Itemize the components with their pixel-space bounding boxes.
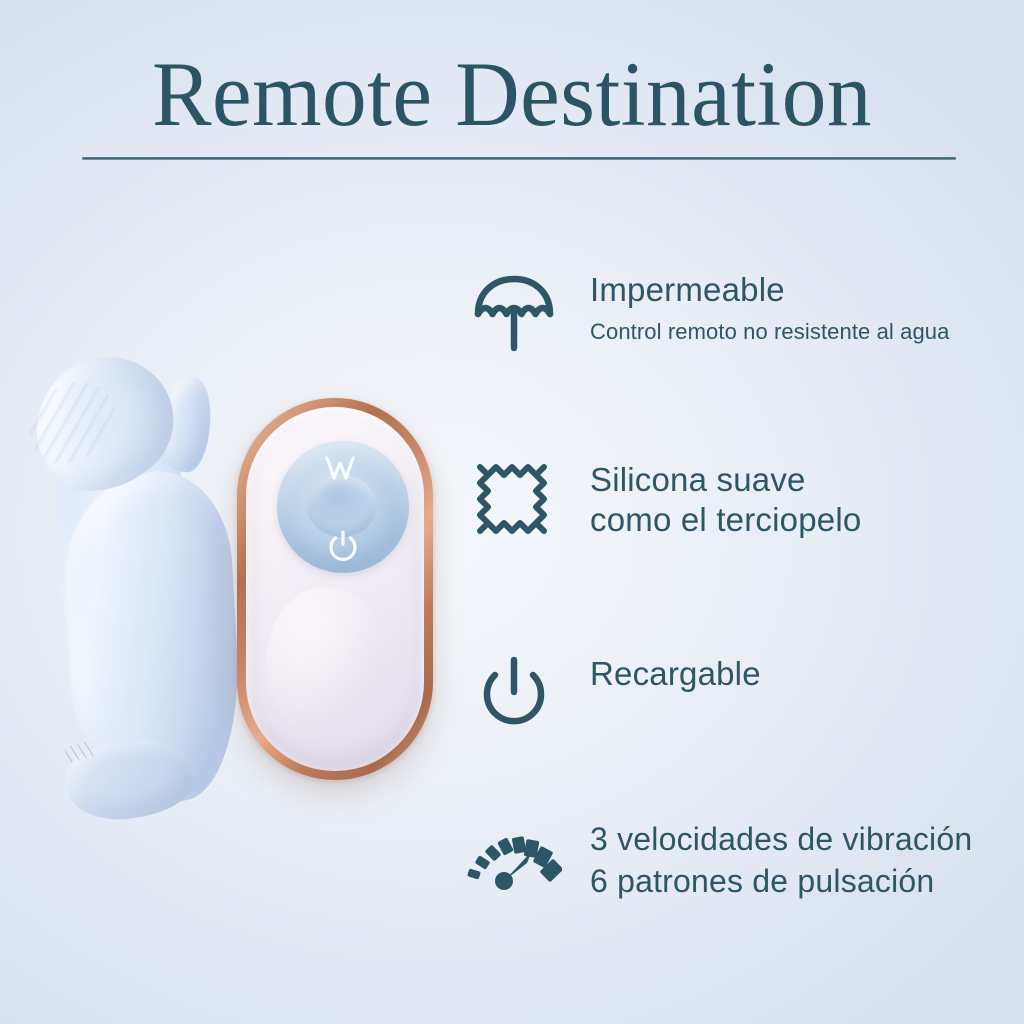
- feature-text-silicona: Silicona suave como el terciopelo: [590, 458, 861, 541]
- feature-text-recargable: Recargable: [590, 652, 761, 694]
- title-divider: [82, 157, 956, 160]
- feature-item-silicona: Silicona suave como el terciopelo: [466, 458, 1024, 544]
- remote-main-button: [277, 441, 409, 573]
- fabric-swatch-icon: [466, 458, 562, 544]
- feature-heading: Impermeable: [590, 270, 949, 310]
- feature-text-impermeable: Impermeable Control remoto no resistente…: [590, 268, 949, 347]
- page-title: Remote Destination: [15, 48, 1008, 142]
- title-block: Remote Destination: [0, 48, 1024, 142]
- feature-item-impermeable: Impermeable Control remoto no resistente…: [466, 268, 1024, 354]
- remote-gloss-highlight: [266, 587, 386, 737]
- feature-text-velocidades: 3 velocidades de vibración 6 patrones de…: [590, 816, 972, 902]
- feature-item-velocidades: 3 velocidades de vibración 6 patrones de…: [466, 816, 1024, 902]
- power-symbol-icon: [327, 529, 359, 563]
- gauge-icon: [466, 816, 562, 902]
- umbrella-icon: [466, 268, 562, 354]
- feature-item-recargable: Recargable: [466, 652, 1024, 738]
- feature-heading: Silicona suave como el terciopelo: [590, 460, 861, 541]
- remote-face-panel: [246, 407, 424, 771]
- feature-subtext: Control remoto no resistente al agua: [590, 317, 949, 347]
- wearable-product-image: [14, 352, 254, 822]
- remote-button-dimple: [307, 475, 377, 537]
- power-icon: [466, 652, 562, 738]
- remote-control-image: [237, 398, 433, 780]
- feature-heading: Recargable: [590, 654, 761, 694]
- feature-heading: 3 velocidades de vibración 6 patrones de…: [590, 818, 972, 902]
- wave-symbol-icon: [323, 455, 363, 481]
- product-infographic: Remote Destination: [0, 0, 1024, 1024]
